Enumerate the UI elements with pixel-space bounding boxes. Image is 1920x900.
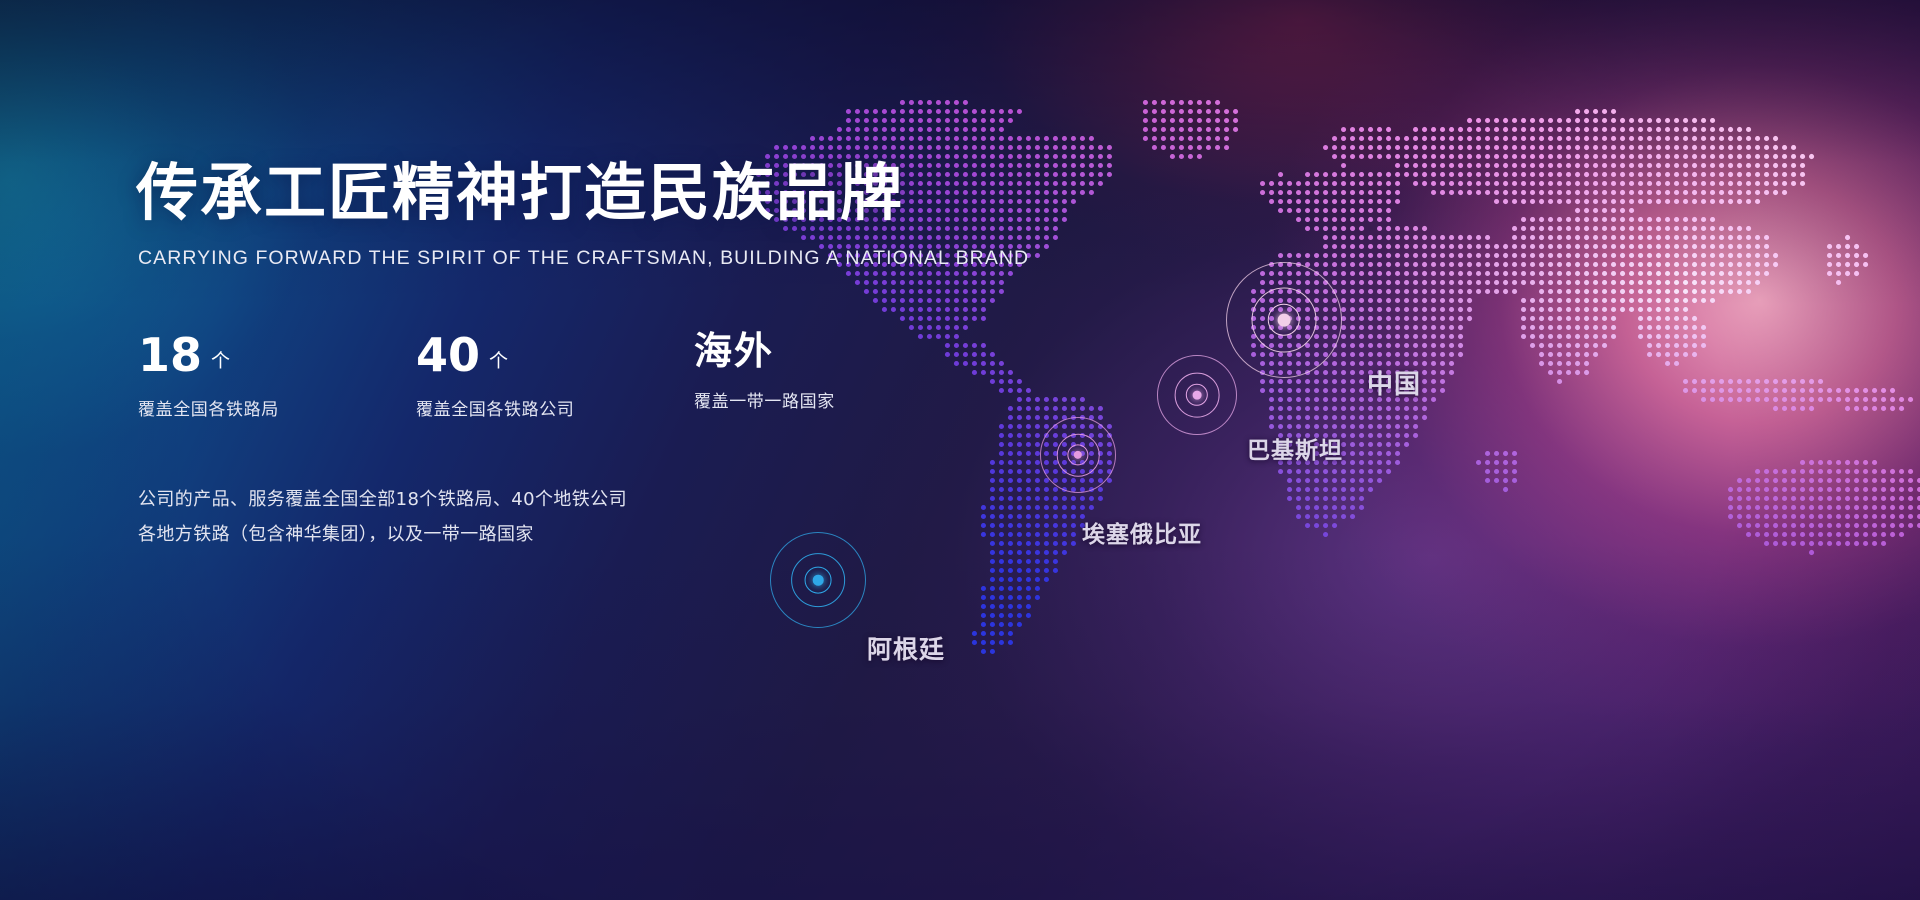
marker-center-dot: [1278, 314, 1291, 327]
stat-description: 覆盖全国各铁路公司: [416, 395, 694, 420]
stat-value: 40: [416, 332, 480, 378]
stat-value: 18: [138, 332, 202, 378]
page-subtitle: CARRYING FORWARD THE SPIRIT OF THE CRAFT…: [138, 247, 1036, 270]
marker-label: 埃塞俄比亚: [1082, 515, 1202, 549]
marker-label: 阿根廷: [867, 630, 945, 666]
stat-headline: 海外: [694, 332, 835, 370]
stat-unit: 个: [211, 346, 230, 373]
stat-description: 覆盖一带一路国家: [694, 387, 835, 412]
stat-description: 覆盖全国各铁路局: [138, 395, 416, 420]
description-line-1: 公司的产品、服务覆盖全国全部18个铁路局、40个地铁公司: [138, 482, 1036, 517]
description-paragraph: 公司的产品、服务覆盖全国全部18个铁路局、40个地铁公司 各地方铁路（包含神华集…: [138, 482, 1036, 552]
stat-item: 海外覆盖一带一路国家: [694, 332, 835, 420]
marker-center-dot: [813, 575, 824, 586]
stat-item: 40个覆盖全国各铁路公司: [416, 332, 694, 420]
description-line-2: 各地方铁路（包含神华集团），以及一带一路国家: [138, 517, 1036, 552]
stat-unit: 个: [489, 346, 508, 373]
stat-headline: 40个: [416, 332, 694, 378]
banner-stage: 中国巴基斯坦埃塞俄比亚阿根廷 传承工匠精神打造民族品牌 CARRYING FOR…: [0, 0, 1920, 900]
marker-label: 中国: [1367, 364, 1421, 401]
content-block: 传承工匠精神打造民族品牌 CARRYING FORWARD THE SPIRIT…: [136, 160, 1036, 552]
stat-item: 18个覆盖全国各铁路局: [138, 332, 416, 420]
marker-label: 巴基斯坦: [1247, 431, 1343, 465]
stats-row: 18个覆盖全国各铁路局40个覆盖全国各铁路公司海外覆盖一带一路国家: [138, 332, 1036, 420]
page-title: 传承工匠精神打造民族品牌: [136, 160, 1036, 227]
marker-center-dot: [1193, 391, 1202, 400]
stat-value: 海外: [694, 332, 774, 370]
stat-headline: 18个: [138, 332, 416, 378]
